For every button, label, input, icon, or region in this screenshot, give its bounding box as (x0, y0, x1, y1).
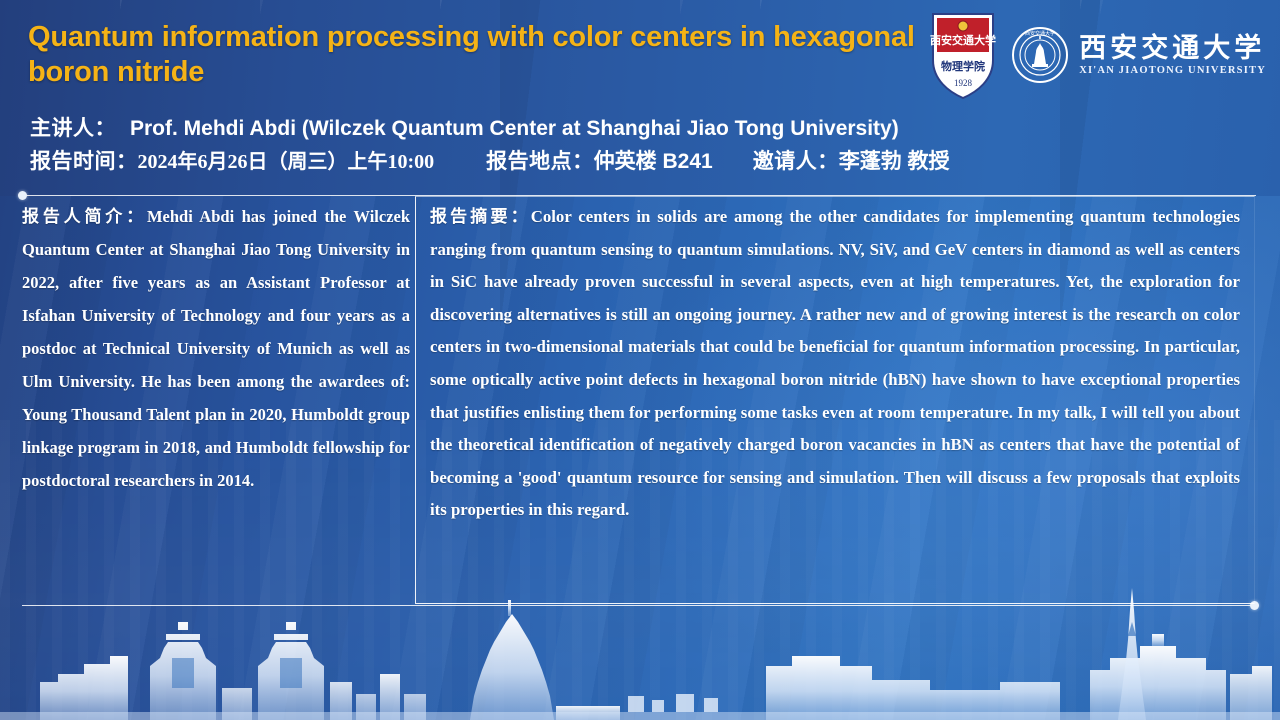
speaker-bio-box: 报告人简介：Mehdi Abdi has joined the Wilczek … (18, 198, 414, 600)
speaker-value: Prof. Mehdi Abdi (Wilczek Quantum Center… (130, 117, 899, 141)
time-label: 报告时间： (30, 145, 138, 175)
abstract-body: Color centers in solids are among the ot… (430, 207, 1240, 519)
speaker-label: 主讲人： (30, 112, 116, 142)
physics-school-shield-logo: 西安交通大学 物理学院 1928 (929, 8, 997, 102)
svg-text:西安交通大学: 西安交通大学 (1025, 30, 1055, 37)
shield-year: 1928 (954, 78, 973, 88)
host-label: 邀请人： (753, 145, 839, 175)
time-value: 2024年6月26日（周三）上午10:00 (138, 145, 435, 174)
schedule-row: 报告时间： 2024年6月26日（周三）上午10:00 报告地点： 仲英楼 B2… (30, 145, 1260, 175)
logo-group: 西安交通大学 物理学院 1928 西安交通大学 西安交通大学 XI'AN JIA… (929, 8, 1266, 102)
speaker-bio-text: 报告人简介：Mehdi Abdi has joined the Wilczek … (22, 200, 410, 497)
abstract-heading: 报告摘要： (430, 207, 531, 226)
xjtu-seal-icon: 西安交通大学 (1011, 26, 1069, 84)
xjtu-logo: 西安交通大学 西安交通大学 XI'AN JIAOTONG UNIVERSITY (1011, 26, 1266, 84)
venue-value: 仲英楼 B241 (594, 145, 713, 175)
abstract-text: 报告摘要：Color centers in solids are among t… (430, 201, 1240, 527)
speaker-row: 主讲人： Prof. Mehdi Abdi (Wilczek Quantum C… (30, 112, 1260, 142)
xjtu-name-cn: 西安交通大学 (1079, 34, 1266, 62)
venue-label: 报告地点： (486, 145, 594, 175)
host-value: 李蓬勃 教授 (839, 145, 950, 175)
page-title: Quantum information processing with colo… (28, 20, 928, 91)
speaker-bio-heading: 报告人简介： (22, 207, 147, 226)
shield-bottom-text: 物理学院 (941, 59, 985, 73)
seminar-info: 主讲人： Prof. Mehdi Abdi (Wilczek Quantum C… (30, 112, 1260, 178)
bottom-divider (22, 605, 1254, 606)
seminar-poster: Quantum information processing with colo… (0, 0, 1280, 720)
abstract-box: 报告摘要：Color centers in solids are among t… (415, 196, 1255, 604)
xjtu-name-en: XI'AN JIAOTONG UNIVERSITY (1079, 65, 1266, 76)
shield-top-text: 西安交通大学 (930, 33, 996, 47)
speaker-bio-body: Mehdi Abdi has joined the Wilczek Quantu… (22, 207, 410, 490)
